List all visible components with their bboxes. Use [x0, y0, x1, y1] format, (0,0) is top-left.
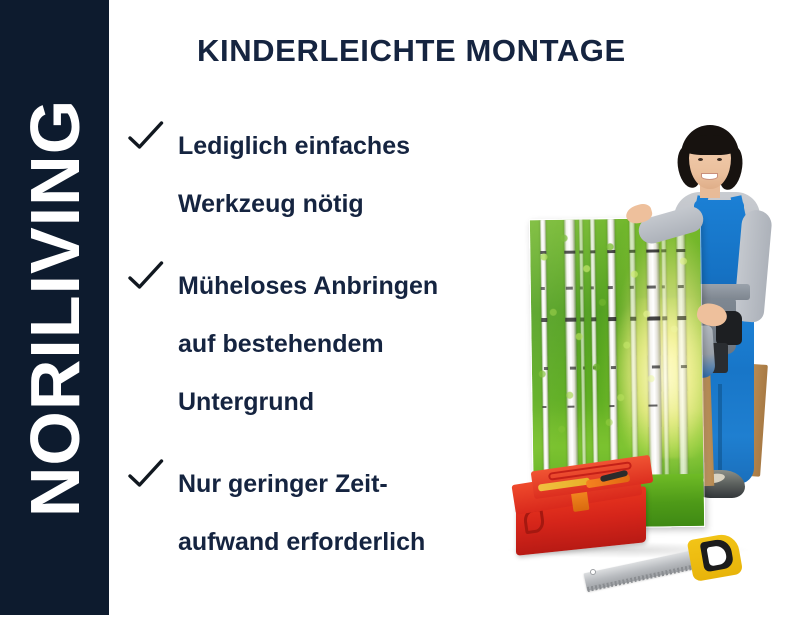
promo-banner: NORILIVING KINDERLEICHTE MONTAGE Ledigli…: [0, 0, 799, 619]
list-item-line: Lediglich einfaches: [178, 117, 528, 175]
eye-right: [717, 158, 722, 161]
list-item-text: Lediglich einfaches Werkzeug nötig: [178, 117, 528, 233]
check-icon: [128, 459, 164, 489]
brand-name: NORILIVING: [20, 98, 90, 516]
page-title: KINDERLEICHTE MONTAGE: [197, 33, 626, 69]
list-item-line: Müheloses Anbringen: [178, 257, 528, 315]
eye-left: [698, 158, 703, 161]
list-item: Lediglich einfaches Werkzeug nötig: [128, 117, 528, 233]
check-icon: [128, 261, 164, 291]
list-item-line: Nur geringer Zeit-: [178, 455, 528, 513]
brand-sidebar: NORILIVING: [0, 0, 109, 615]
list-item: Nur geringer Zeit- aufwand erforderlich: [128, 455, 528, 571]
tool-box: [512, 453, 664, 551]
product-photo: [498, 106, 799, 591]
list-item-line: aufwand erforderlich: [178, 513, 528, 571]
list-item: Müheloses Anbringen auf bestehendem Unte…: [128, 257, 528, 431]
list-item-text: Müheloses Anbringen auf bestehendem Unte…: [178, 257, 528, 431]
trouser-seam: [718, 384, 722, 484]
list-item-line: Werkzeug nötig: [178, 175, 528, 233]
check-icon: [128, 121, 164, 151]
feature-list: Lediglich einfaches Werkzeug nötig Mühel…: [128, 117, 528, 571]
list-item-line: auf bestehendem: [178, 315, 528, 373]
smile: [701, 173, 718, 180]
list-item-line: Untergrund: [178, 373, 528, 431]
list-item-text: Nur geringer Zeit- aufwand erforderlich: [178, 455, 528, 571]
saw-blade-hole: [590, 569, 596, 575]
